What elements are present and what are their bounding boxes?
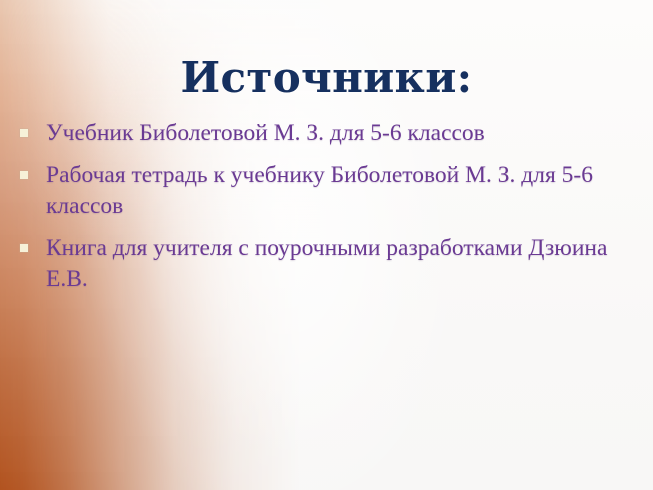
sources-list: Учебник Биболетовой М. З. для 5-6 классо…	[18, 118, 645, 295]
slide-title: Источники:	[0, 54, 653, 101]
list-item-text: Учебник Биболетовой М. З. для 5-6 классо…	[46, 118, 645, 149]
list-item: Рабочая тетрадь к учебнику Биболетовой М…	[18, 160, 645, 222]
square-bullet-icon	[20, 244, 28, 252]
square-bullet-icon	[20, 171, 28, 179]
list-item-text: Рабочая тетрадь к учебнику Биболетовой М…	[46, 160, 645, 222]
presentation-slide: Источники: Учебник Биболетовой М. З. для…	[0, 0, 653, 490]
list-item-text: Книга для учителя с поурочными разработк…	[46, 233, 645, 295]
list-item: Учебник Биболетовой М. З. для 5-6 классо…	[18, 118, 645, 149]
square-bullet-icon	[20, 129, 28, 137]
list-item: Книга для учителя с поурочными разработк…	[18, 233, 645, 295]
